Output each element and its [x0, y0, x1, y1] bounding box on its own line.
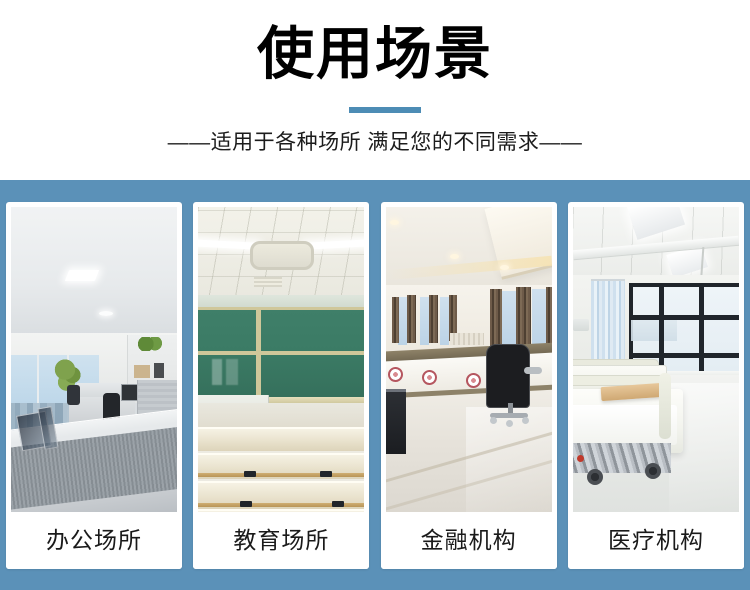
classroom-chalkboard — [198, 307, 364, 405]
scenario-card-medical[interactable]: 医疗机构 — [568, 202, 744, 569]
hospital-window-view — [631, 319, 677, 341]
bank-downlight-icon — [500, 265, 509, 270]
bank-photo — [386, 207, 552, 512]
office-spotlight-icon — [99, 311, 113, 316]
bank-office-chair — [486, 344, 530, 408]
bank-kiosk — [386, 389, 406, 454]
classroom-chalk-writing — [212, 359, 248, 385]
title-accent-rule — [349, 107, 421, 113]
classroom-photo — [198, 207, 364, 512]
scenario-card-label: 教育场所 — [193, 512, 369, 569]
classroom-board-divider-horizontal — [198, 351, 364, 355]
scenario-card-finance[interactable]: 金融机构 — [381, 202, 557, 569]
scenario-card-label: 医疗机构 — [568, 512, 744, 569]
hospital-bed-caster-icon — [587, 469, 603, 485]
bank-downlight-icon — [450, 254, 459, 259]
bank-curtain — [407, 295, 416, 343]
hospital-wall-outlet — [573, 319, 589, 331]
classroom-desk-rows — [198, 425, 364, 512]
page-subtitle: ——适用于各种场所 满足您的不同需求—— — [0, 128, 750, 158]
page-header: 使用场景 ——适用于各种场所 满足您的不同需求—— — [0, 0, 750, 180]
hospital-bed-release-knob — [577, 455, 584, 462]
bank-radiator — [450, 333, 484, 345]
office-photo — [11, 207, 177, 512]
classroom-board-divider-vertical — [256, 307, 261, 399]
scenario-card-label: 办公场所 — [6, 512, 182, 569]
bank-curtain — [546, 287, 552, 349]
office-chair-secondary — [67, 385, 80, 405]
scenario-card-list: 办公场所 — [6, 202, 744, 569]
scenario-card-education[interactable]: 教育场所 — [193, 202, 369, 569]
page-title: 使用场景 — [0, 18, 750, 90]
usage-scenario-page: 使用场景 ——适用于各种场所 满足您的不同需求—— — [0, 0, 750, 590]
office-panel-light-icon — [65, 270, 99, 281]
bank-curtain — [516, 287, 531, 349]
hospital-bed-caster-icon — [645, 463, 661, 479]
scenario-card-office[interactable]: 办公场所 — [6, 202, 182, 569]
bank-downlight-icon — [390, 220, 399, 225]
bank-curtain — [490, 289, 502, 347]
hospital-bed-head-rail — [659, 373, 671, 439]
bank-chair-armrest — [524, 367, 542, 374]
bank-chair-base — [490, 403, 528, 423]
classroom-ceiling-vent — [250, 241, 314, 270]
scenario-card-label: 金融机构 — [381, 512, 557, 569]
bank-curtain — [392, 297, 399, 343]
classroom-ceiling-grille — [254, 277, 282, 287]
bank-curtain — [429, 295, 438, 343]
scenario-band: 办公场所 — [0, 180, 750, 590]
hospital-photo — [573, 207, 739, 512]
